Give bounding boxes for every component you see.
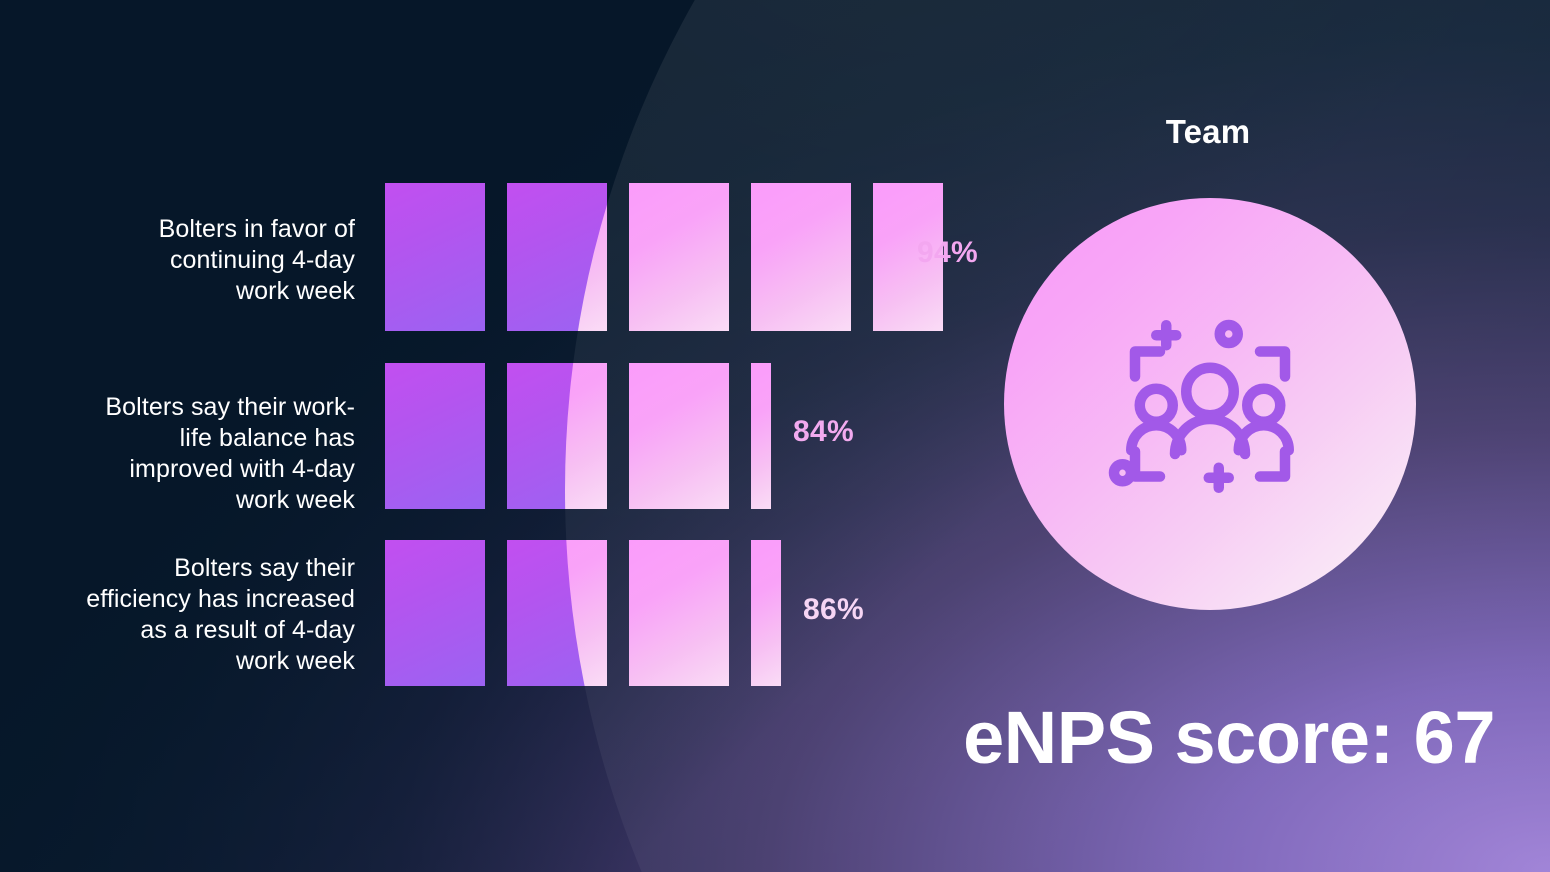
value-label-worklife: 84% <box>793 415 854 449</box>
value-label-favor: 94% <box>917 236 978 270</box>
row-label-favor: Bolters in favor of continuing 4-day wor… <box>55 214 355 307</box>
team-group-icon <box>1085 279 1335 529</box>
row-label-efficiency: Bolters say their efficiency has increas… <box>55 553 355 677</box>
team-icon-circle <box>1004 198 1416 610</box>
row-label-worklife: Bolters say their work- life balance has… <box>55 392 355 516</box>
infographic-canvas: Bolters in favor of continuing 4-day wor… <box>0 0 1550 872</box>
value-label-efficiency: 86% <box>803 593 864 627</box>
enps-score-headline: eNPS score: 67 <box>0 695 1495 780</box>
panel-title-team: Team <box>1048 113 1368 151</box>
